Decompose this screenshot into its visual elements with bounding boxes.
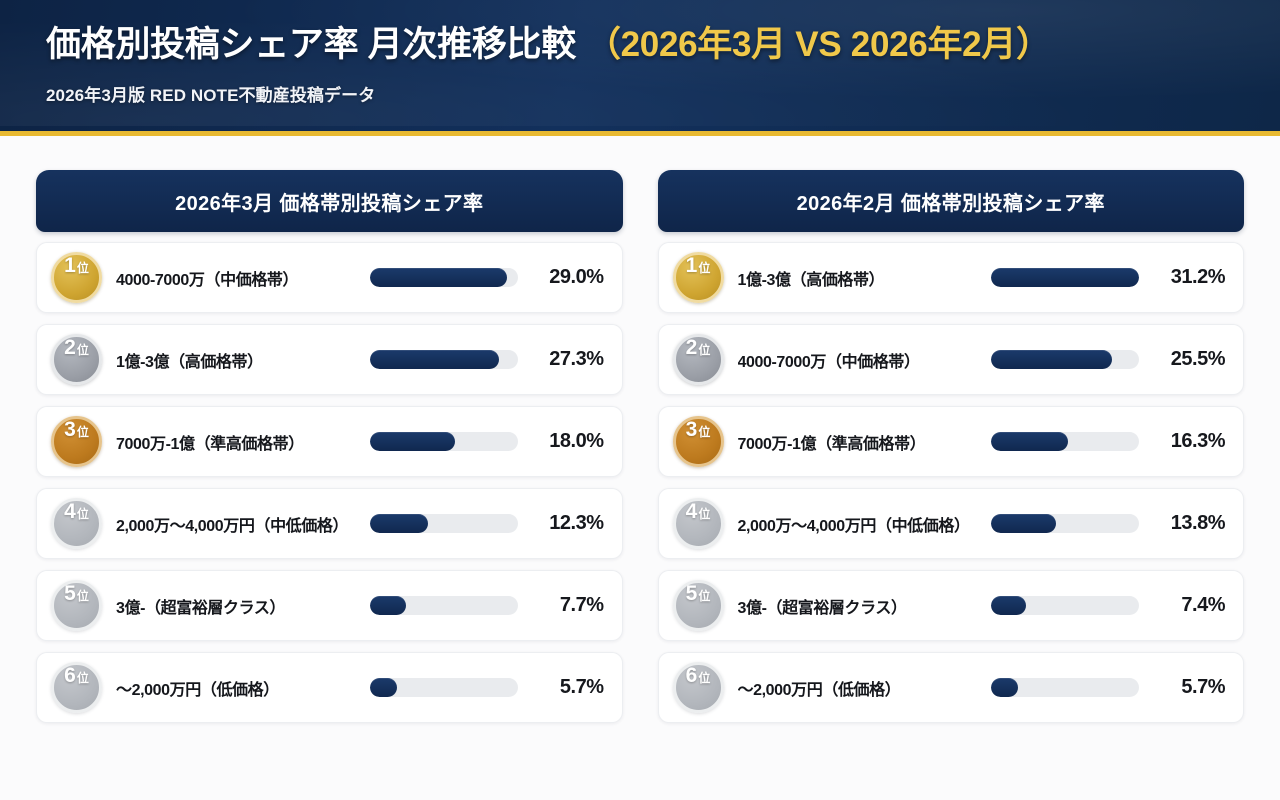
share-percent-value: 29.0% [532, 266, 604, 289]
ranking-row: 6位〜2,000万円（低価格）5.7% [658, 652, 1245, 723]
share-bar-fill [991, 514, 1056, 533]
share-bar-track [370, 514, 518, 533]
rank-badge: 2位 [51, 334, 102, 385]
share-percent-value: 27.3% [532, 348, 604, 371]
page-title: 価格別投稿シェア率 月次推移比較（2026年3月 VS 2026年2月） [46, 24, 1280, 65]
share-percent-value: 18.0% [532, 430, 604, 453]
share-bar-track [991, 350, 1139, 369]
share-bar-fill [991, 596, 1026, 615]
share-bar-track [370, 350, 518, 369]
share-percent-value: 16.3% [1153, 430, 1225, 453]
panel-header-march: 2026年3月 価格帯別投稿シェア率 [36, 170, 623, 232]
rank-number: 6 [686, 665, 698, 686]
share-percent-value: 25.5% [1153, 348, 1225, 371]
share-bar-fill [991, 268, 1139, 287]
ranking-list-march: 1位4000-7000万（中価格帯）29.0%2位1億-3億（高価格帯）27.3… [36, 242, 623, 723]
panel-february: 2026年2月 価格帯別投稿シェア率 1位1億-3億（高価格帯）31.2%2位4… [658, 170, 1245, 800]
rank-badge: 4位 [673, 498, 724, 549]
infographic-page: 価格別投稿シェア率 月次推移比較（2026年3月 VS 2026年2月） 202… [0, 0, 1280, 800]
ranking-row: 5位3億-（超富裕層クラス）7.4% [658, 570, 1245, 641]
share-bar-fill [370, 514, 428, 533]
share-bar-fill [370, 350, 500, 369]
rank-number: 6 [64, 665, 76, 686]
rank-suffix: 位 [77, 426, 89, 438]
ranking-row: 4位2,000万〜4,000万円（中低価格）13.8% [658, 488, 1245, 559]
rank-number: 4 [686, 501, 698, 522]
rank-suffix: 位 [698, 508, 710, 520]
share-bar-track [991, 596, 1139, 615]
share-bar-track [991, 432, 1139, 451]
rank-badge: 1位 [673, 252, 724, 303]
share-bar-fill [991, 432, 1068, 451]
rank-suffix: 位 [698, 590, 710, 602]
share-percent-value: 5.7% [532, 676, 604, 699]
share-bar-track [991, 268, 1139, 287]
share-percent-value: 7.4% [1153, 594, 1225, 617]
price-band-label: 1億-3億（高価格帯） [116, 348, 370, 372]
rank-suffix: 位 [77, 508, 89, 520]
share-bar-track [370, 678, 518, 697]
ranking-row: 2位1億-3億（高価格帯）27.3% [36, 324, 623, 395]
price-band-label: 7000万-1億（準高価格帯） [738, 430, 992, 454]
rank-number: 2 [64, 337, 76, 358]
share-percent-value: 12.3% [532, 512, 604, 535]
share-bar-track [991, 514, 1139, 533]
share-percent-value: 5.7% [1153, 676, 1225, 699]
share-percent-value: 31.2% [1153, 266, 1225, 289]
page-title-accent: （2026年3月 VS 2026年2月） [586, 25, 1051, 64]
rank-badge: 5位 [673, 580, 724, 631]
page-header: 価格別投稿シェア率 月次推移比較（2026年3月 VS 2026年2月） 202… [0, 0, 1280, 136]
rank-number: 5 [64, 583, 76, 604]
rank-suffix: 位 [77, 672, 89, 684]
share-percent-value: 13.8% [1153, 512, 1225, 535]
rank-suffix: 位 [77, 590, 89, 602]
rank-number: 3 [686, 419, 698, 440]
share-bar-track [370, 432, 518, 451]
panels-container: 2026年3月 価格帯別投稿シェア率 1位4000-7000万（中価格帯）29.… [0, 136, 1280, 800]
ranking-row: 1位1億-3億（高価格帯）31.2% [658, 242, 1245, 313]
rank-number: 2 [686, 337, 698, 358]
price-band-label: 3億-（超富裕層クラス） [738, 594, 992, 618]
rank-badge: 6位 [673, 662, 724, 713]
share-bar-fill [370, 432, 455, 451]
rank-suffix: 位 [77, 262, 89, 274]
page-subtitle: 2026年3月版 RED NOTE不動産投稿データ [46, 81, 1280, 106]
share-bar-track [991, 678, 1139, 697]
price-band-label: 1億-3億（高価格帯） [738, 266, 992, 290]
rank-number: 5 [686, 583, 698, 604]
price-band-label: 2,000万〜4,000万円（中低価格） [116, 512, 370, 536]
share-bar-fill [370, 678, 397, 697]
rank-suffix: 位 [77, 344, 89, 356]
price-band-label: 3億-（超富裕層クラス） [116, 594, 370, 618]
panel-header-february: 2026年2月 価格帯別投稿シェア率 [658, 170, 1245, 232]
page-title-main: 価格別投稿シェア率 月次推移比較 [46, 25, 576, 64]
share-bar-track [370, 596, 518, 615]
ranking-row: 2位4000-7000万（中価格帯）25.5% [658, 324, 1245, 395]
rank-number: 3 [64, 419, 76, 440]
rank-badge: 3位 [673, 416, 724, 467]
share-bar-fill [991, 678, 1018, 697]
ranking-row: 5位3億-（超富裕層クラス）7.7% [36, 570, 623, 641]
share-percent-value: 7.7% [532, 594, 604, 617]
rank-badge: 3位 [51, 416, 102, 467]
rank-badge: 4位 [51, 498, 102, 549]
rank-badge: 2位 [673, 334, 724, 385]
share-bar-track [370, 268, 518, 287]
price-band-label: 4000-7000万（中価格帯） [116, 266, 370, 290]
panel-march: 2026年3月 価格帯別投稿シェア率 1位4000-7000万（中価格帯）29.… [36, 170, 623, 800]
price-band-label: 2,000万〜4,000万円（中低価格） [738, 512, 992, 536]
rank-badge: 6位 [51, 662, 102, 713]
rank-badge: 5位 [51, 580, 102, 631]
price-band-label: 〜2,000万円（低価格） [738, 676, 992, 700]
rank-suffix: 位 [698, 262, 710, 274]
rank-number: 1 [686, 255, 698, 276]
share-bar-fill [991, 350, 1112, 369]
share-bar-fill [370, 596, 407, 615]
price-band-label: 〜2,000万円（低価格） [116, 676, 370, 700]
ranking-row: 1位4000-7000万（中価格帯）29.0% [36, 242, 623, 313]
ranking-row: 6位〜2,000万円（低価格）5.7% [36, 652, 623, 723]
price-band-label: 4000-7000万（中価格帯） [738, 348, 992, 372]
rank-number: 1 [64, 255, 76, 276]
price-band-label: 7000万-1億（準高価格帯） [116, 430, 370, 454]
ranking-row: 3位7000万-1億（準高価格帯）18.0% [36, 406, 623, 477]
rank-suffix: 位 [698, 344, 710, 356]
ranking-row: 3位7000万-1億（準高価格帯）16.3% [658, 406, 1245, 477]
ranking-row: 4位2,000万〜4,000万円（中低価格）12.3% [36, 488, 623, 559]
rank-suffix: 位 [698, 672, 710, 684]
share-bar-fill [370, 268, 508, 287]
rank-number: 4 [64, 501, 76, 522]
rank-suffix: 位 [698, 426, 710, 438]
ranking-list-february: 1位1億-3億（高価格帯）31.2%2位4000-7000万（中価格帯）25.5… [658, 242, 1245, 723]
rank-badge: 1位 [51, 252, 102, 303]
